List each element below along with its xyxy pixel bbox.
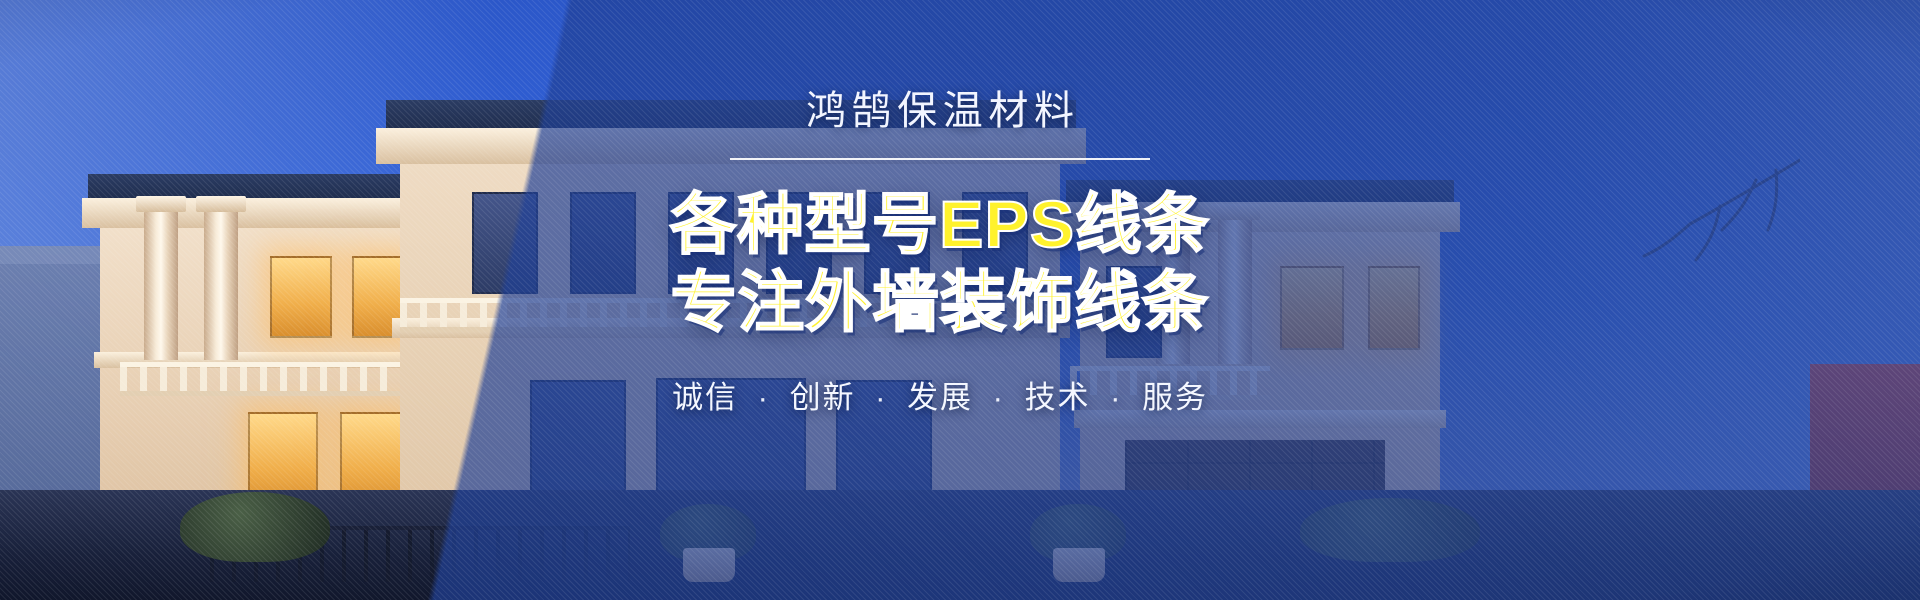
brand-name: 鸿鹄保温材料 (560, 86, 1320, 136)
headline-line-1: 各种型号EPS线条 (560, 186, 1320, 264)
tagline-separator: · (1110, 380, 1122, 415)
tagline-item: 服务 (1142, 380, 1208, 415)
headline-line-2: 专注外墙装饰线条 (560, 264, 1320, 342)
tagline-separator: · (993, 380, 1005, 415)
hero-banner: 鸿鹄保温材料 各种型号EPS线条 专注外墙装饰线条 诚信 · 创新 · 发展 ·… (0, 0, 1920, 600)
banner-copy: 鸿鹄保温材料 各种型号EPS线条 专注外墙装饰线条 诚信 · 创新 · 发展 ·… (560, 86, 1320, 417)
tagline-separator: · (875, 380, 887, 415)
tagline: 诚信 · 创新 · 发展 · 技术 · 服务 (560, 372, 1320, 417)
divider-top (730, 158, 1150, 160)
headline: 各种型号EPS线条 专注外墙装饰线条 (560, 186, 1320, 342)
tagline-item: 创新 (790, 380, 856, 415)
tagline-separator: · (758, 380, 770, 415)
tagline-item: 技术 (1025, 380, 1091, 415)
tagline-item: 诚信 (672, 380, 738, 415)
tagline-item: 发展 (907, 380, 973, 415)
